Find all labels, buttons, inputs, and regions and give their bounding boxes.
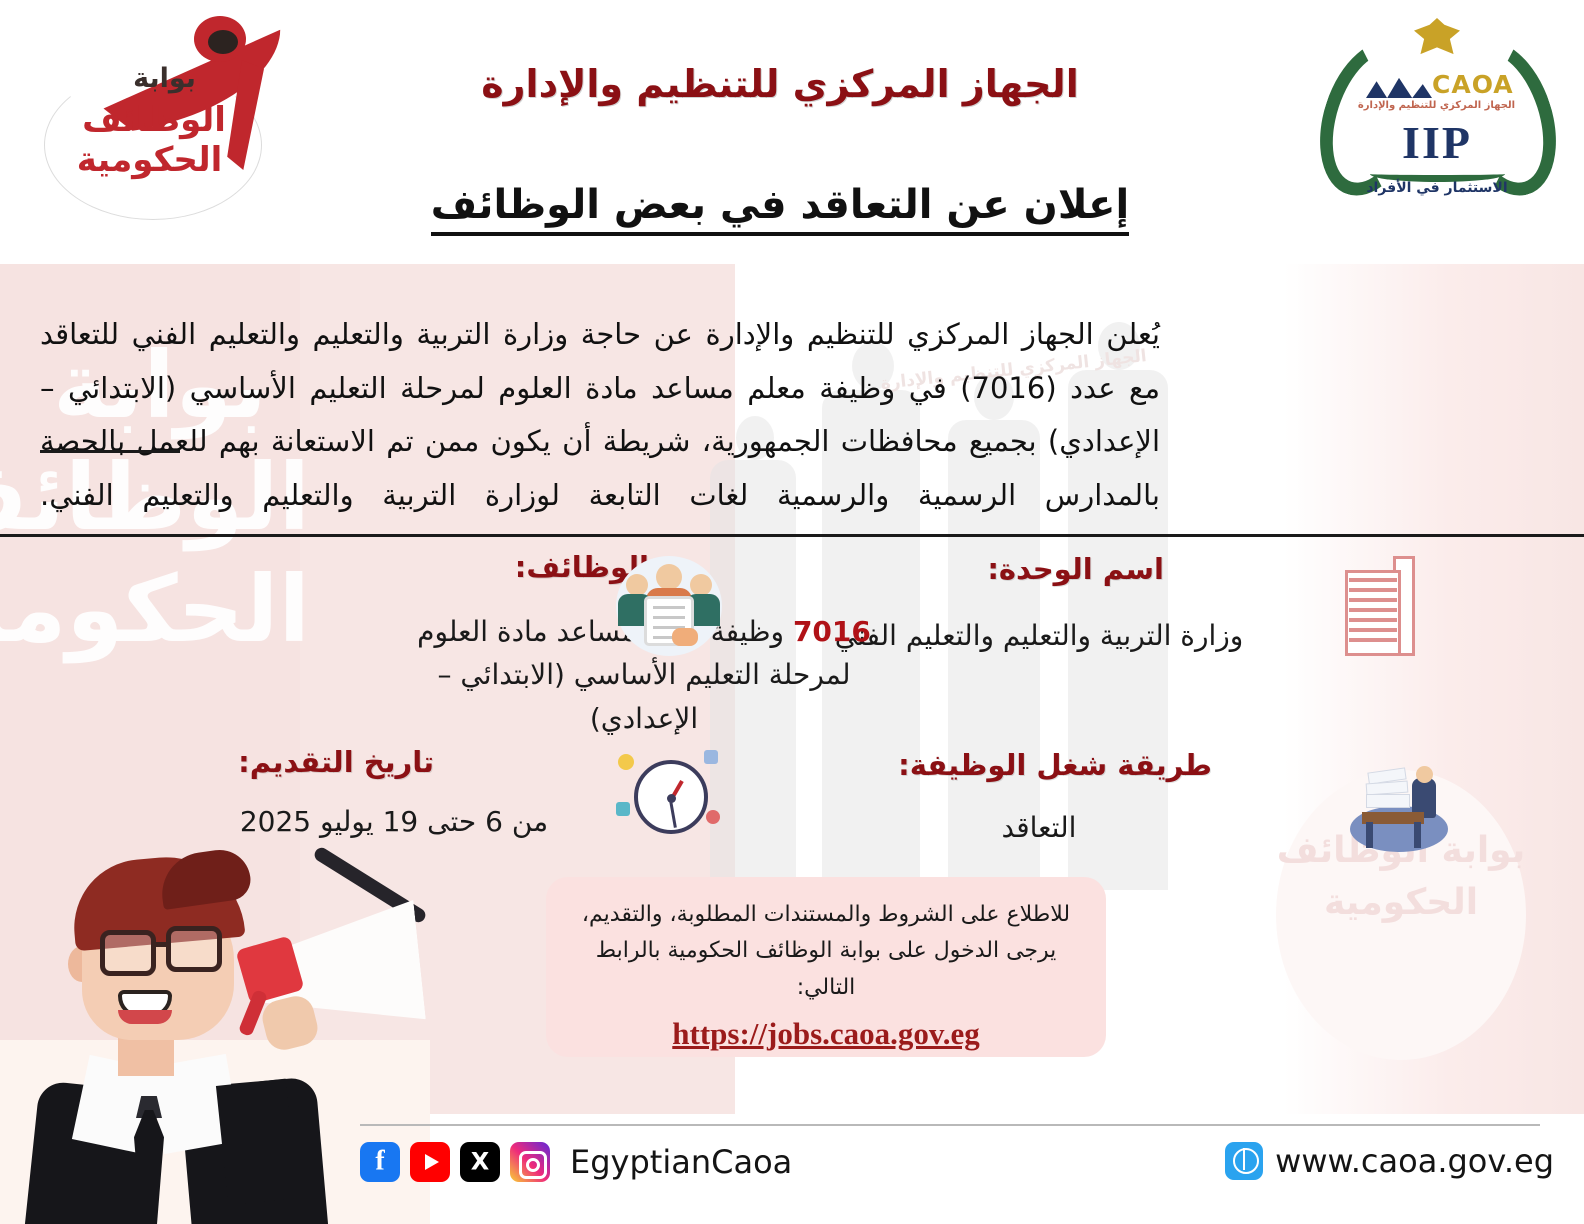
eagle-emblem-icon bbox=[1414, 18, 1460, 60]
website-text[interactable]: www.caoa.gov.eg bbox=[1275, 1142, 1554, 1180]
building-icon bbox=[1337, 552, 1419, 657]
job-announcement-poster: بوابة الوظائف الحكومية بوابة الوظائف الح… bbox=[0, 0, 1584, 1224]
caoa-iip-logo: CAOA الجهاز المركزي للتنظيم والإدارة IIP… bbox=[1318, 12, 1558, 212]
announcement-paragraph: يُعلن الجهاز المركزي للتنظيم والإدارة عن… bbox=[40, 308, 1160, 523]
announcement-title-text: إعلان عن التعاقد في بعض الوظائف bbox=[431, 182, 1129, 236]
announcer-with-megaphone-illustration bbox=[10, 838, 410, 1224]
desk-worker-icon bbox=[1344, 760, 1454, 865]
application-instructions-box: للاطلاع على الشروط والمستندات المطلوبة، … bbox=[546, 877, 1106, 1057]
instructions-line-2: يرجى الدخول على بوابة الوظائف الحكومية ب… bbox=[572, 933, 1080, 1006]
application-date-label: تاريخ التقديم: bbox=[238, 745, 434, 779]
globe-icon bbox=[1225, 1142, 1263, 1180]
instructions-line-1: للاطلاع على الشروط والمستندات المطلوبة، … bbox=[572, 897, 1080, 933]
right-rose-panel bbox=[1284, 264, 1584, 1114]
facebook-icon[interactable] bbox=[360, 1142, 400, 1182]
iip-wordmark: IIP bbox=[1366, 116, 1508, 169]
logo-head-inner-icon bbox=[208, 30, 238, 54]
caoa-peaks-icon bbox=[1366, 74, 1432, 98]
logo-line-2: الوظائف bbox=[54, 100, 254, 140]
logo-line-1: بوابة bbox=[77, 63, 252, 94]
poster-header: بوابة الوظائف الحكومية CAOA الجهاز المرك… bbox=[0, 0, 1584, 264]
employment-method-value: التعاقد bbox=[759, 806, 1319, 849]
section-divider bbox=[0, 534, 1584, 537]
youtube-icon[interactable] bbox=[410, 1142, 450, 1182]
government-jobs-portal-logo: بوابة الوظائف الحكومية bbox=[22, 8, 352, 218]
website-row: www.caoa.gov.eg bbox=[1225, 1142, 1554, 1180]
x-twitter-icon[interactable] bbox=[460, 1142, 500, 1182]
unit-name-label: اسم الوحدة: bbox=[987, 552, 1164, 586]
team-document-icon bbox=[616, 556, 722, 656]
iip-arabic-subtitle: الاستثمار في الأفراد bbox=[1348, 180, 1526, 196]
instagram-icon[interactable] bbox=[510, 1142, 550, 1182]
caoa-mark: CAOA bbox=[1366, 70, 1508, 100]
caoa-arabic-subtitle: الجهاز المركزي للتنظيم والإدارة bbox=[1354, 100, 1519, 111]
social-media-row: EgyptianCaoa bbox=[360, 1142, 792, 1182]
caoa-wordmark: CAOA bbox=[1432, 70, 1514, 99]
logo-line-3: الحكومية bbox=[42, 140, 257, 180]
jobs-count: 7016 bbox=[793, 615, 871, 648]
application-date-value: من 6 حتى 19 يوليو 2025 bbox=[204, 800, 584, 843]
organization-title: الجهاز المركزي للتنظيم والإدارة bbox=[400, 62, 1160, 106]
employment-method-label: طريقة شغل الوظيفة: bbox=[898, 748, 1212, 782]
footer-divider bbox=[360, 1124, 1540, 1126]
announcement-title: إعلان عن التعاقد في بعض الوظائف bbox=[400, 182, 1160, 228]
jobs-portal-link[interactable]: https://jobs.caoa.gov.eg bbox=[572, 1016, 1080, 1052]
social-handle-text: EgyptianCaoa bbox=[570, 1143, 792, 1181]
clock-icon bbox=[614, 748, 722, 848]
paragraph-short-divider bbox=[40, 450, 180, 453]
